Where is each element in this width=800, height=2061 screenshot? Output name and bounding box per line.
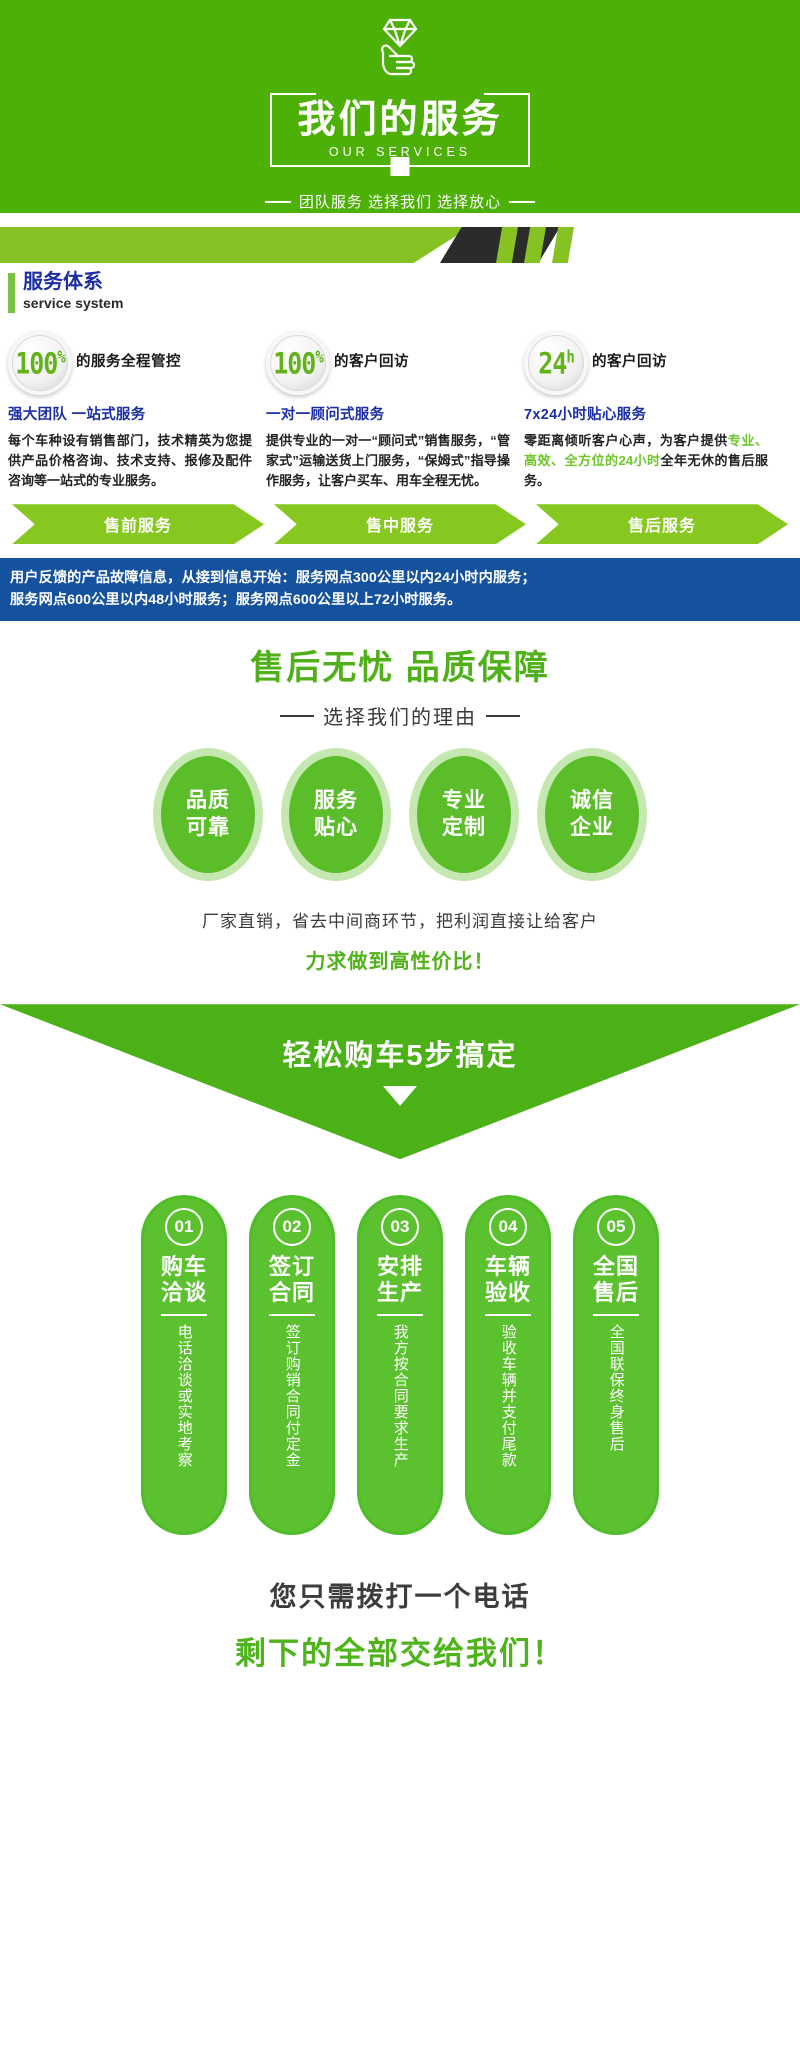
- service-column-3: 24h 的客户回访 7x24小时贴心服务 零距离倾听客户心声，为客户提供专业、高…: [524, 331, 782, 490]
- percent-badge-1: 100%: [8, 331, 72, 395]
- badge-number-2: 100: [273, 346, 315, 380]
- badge-unit-2: %: [315, 348, 322, 367]
- column-body-3-pre: 零距离倾听客户心声，为客户提供: [524, 433, 728, 448]
- reason-oval-list: 品质 可靠 服务 贴心 专业 定制 诚信 企业: [0, 756, 800, 873]
- badge-label-1: 的服务全程管控: [76, 355, 181, 371]
- reason-oval-quality: 品质 可靠: [161, 756, 255, 873]
- badge-row-1: 100% 的服务全程管控: [8, 331, 252, 395]
- step-title-4: 车辆 验收: [485, 1254, 531, 1305]
- badge-label-2: 的客户回访: [334, 355, 409, 371]
- phase-arrow-presale[interactable]: 售前服务: [12, 504, 264, 544]
- badge-unit-3: h: [566, 348, 573, 367]
- step-title-2-l1: 签订: [269, 1254, 315, 1280]
- phase-arrow-insale[interactable]: 售中服务: [274, 504, 526, 544]
- reason-oval-integrity-l2: 企业: [570, 815, 614, 842]
- step-title-5: 全国 售后: [593, 1254, 639, 1305]
- step-number-5: 05: [597, 1208, 635, 1246]
- cta-line-1: 您只需拨打一个电话: [0, 1575, 800, 1614]
- heading-accent-bar: [8, 273, 15, 313]
- reason-oval-custom-l1: 专业: [442, 788, 486, 815]
- reasons-subheading-text: 选择我们的理由: [323, 701, 477, 730]
- step-title-1-l1: 购车: [161, 1254, 207, 1280]
- step-title-2: 签订 合同: [269, 1254, 315, 1305]
- service-system-title-cn: 服务体系: [23, 271, 123, 294]
- step-title-5-l2: 售后: [593, 1280, 639, 1306]
- decor-green-slab: [0, 227, 470, 263]
- step-title-3-l1: 安排: [377, 1254, 423, 1280]
- hero-title-box: 我们的服务 OUR SERVICES: [270, 93, 530, 167]
- badge-row-2: 100% 的客户回访: [266, 331, 510, 395]
- phase-arrow-aftersale-label: 售后服务: [628, 512, 696, 536]
- hours-badge-3: 24h: [524, 331, 588, 395]
- notice-line-1: 用户反馈的产品故障信息，从接到信息开始：服务网点300公里以内24小时内服务；: [10, 567, 790, 589]
- step-desc-2: 签订购销合同付定金: [282, 1324, 302, 1468]
- reason-oval-quality-l1: 品质: [186, 788, 230, 815]
- service-notice-bar: 用户反馈的产品故障信息，从接到信息开始：服务网点300公里以内24小时内服务； …: [0, 558, 800, 621]
- step-divider-2: [269, 1314, 315, 1316]
- column-title-2: 一对一顾问式服务: [266, 403, 510, 424]
- reason-oval-integrity-l1: 诚信: [570, 788, 614, 815]
- step-number-3: 03: [381, 1208, 419, 1246]
- phase-arrow-presale-label: 售前服务: [104, 512, 172, 536]
- reason-oval-custom: 专业 定制: [417, 756, 511, 873]
- reasons-heading: 售后无忧 品质保障: [0, 651, 800, 685]
- reason-oval-quality-l2: 可靠: [186, 815, 230, 842]
- diamond-hand-icon: [372, 12, 428, 89]
- step-title-2-l2: 合同: [269, 1280, 315, 1306]
- phase-arrow-insale-label: 售中服务: [366, 512, 434, 536]
- step-divider-1: [161, 1314, 207, 1316]
- step-divider-5: [593, 1314, 639, 1316]
- hero-tagline: 团队服务 选择我们 选择放心: [265, 191, 535, 212]
- step-desc-5: 全国联保终身售后: [606, 1324, 626, 1452]
- step-title-4-l1: 车辆: [485, 1254, 531, 1280]
- purchase-step-5: 05 全国 售后 全国联保终身售后: [573, 1195, 659, 1535]
- phase-arrow-aftersale[interactable]: 售后服务: [536, 504, 788, 544]
- step-title-3-l2: 生产: [377, 1280, 423, 1306]
- step-title-1: 购车 洽谈: [161, 1254, 207, 1305]
- purchase-step-3: 03 安排 生产 我方按合同要求生产: [357, 1195, 443, 1535]
- step-number-4: 04: [489, 1208, 527, 1246]
- step-desc-3: 我方按合同要求生产: [390, 1324, 410, 1468]
- reason-oval-service-l1: 服务: [314, 788, 358, 815]
- badge-unit-1: %: [57, 348, 64, 367]
- purchase-steps-banner-title: 轻松购车5步搞定: [282, 1032, 517, 1074]
- badge-row-3: 24h 的客户回访: [524, 331, 768, 395]
- step-number-1: 01: [165, 1208, 203, 1246]
- service-column-1: 100% 的服务全程管控 强大团队 一站式服务 每个车种设有销售部门，技术精英为…: [8, 331, 266, 490]
- column-title-3: 7x24小时贴心服务: [524, 403, 768, 424]
- selling-point-line-1: 厂家直销，省去中间商环节，把利润直接让给客户: [0, 907, 800, 932]
- percent-badge-2: 100%: [266, 331, 330, 395]
- column-title-1: 强大团队 一站式服务: [8, 403, 252, 424]
- reason-oval-integrity: 诚信 企业: [545, 756, 639, 873]
- column-body-1: 每个车种设有销售部门，技术精英为您提供产品价格咨询、技术支持、报修及配件咨询等一…: [8, 431, 252, 490]
- hero-tick-marker: [391, 157, 410, 176]
- purchase-step-1: 01 购车 洽谈 电话洽谈或实地考察: [141, 1195, 227, 1535]
- page-title: 我们的服务: [297, 100, 502, 138]
- step-title-5-l1: 全国: [593, 1254, 639, 1280]
- service-column-2: 100% 的客户回访 一对一顾问式服务 提供专业的一对一“顾问式”销售服务，“管…: [266, 331, 524, 490]
- step-title-3: 安排 生产: [377, 1254, 423, 1305]
- down-caret-icon: [383, 1086, 417, 1106]
- subheading-dash-left: [280, 715, 314, 717]
- cta-line-2: 剩下的全部交给我们！: [0, 1628, 800, 1673]
- reasons-section: 售后无忧 品质保障 选择我们的理由 品质 可靠 服务 贴心 专业 定制 诚信 企…: [0, 651, 800, 974]
- reasons-subheading: 选择我们的理由: [280, 701, 520, 730]
- service-system-title-en: service system: [23, 295, 123, 312]
- reason-oval-service-l2: 贴心: [314, 815, 358, 842]
- step-divider-4: [485, 1314, 531, 1316]
- purchase-step-2: 02 签订 合同 签订购销合同付定金: [249, 1195, 335, 1535]
- step-title-1-l2: 洽谈: [161, 1280, 207, 1306]
- subheading-dash-right: [486, 715, 520, 717]
- purchase-step-list: 01 购车 洽谈 电话洽谈或实地考察 02 签订 合同 签订购销合同付定金 03…: [0, 1195, 800, 1535]
- step-desc-4: 验收车辆并支付尾款: [498, 1324, 518, 1468]
- step-desc-1: 电话洽谈或实地考察: [174, 1324, 194, 1468]
- service-phase-arrows: 售前服务 售中服务 售后服务: [0, 504, 800, 544]
- hero-banner: 我们的服务 OUR SERVICES 团队服务 选择我们 选择放心: [0, 0, 800, 213]
- badge-label-3: 的客户回访: [592, 355, 667, 371]
- tagline-dash-right: [509, 201, 535, 203]
- badge-number-3: 24: [538, 346, 566, 380]
- purchase-steps-banner: 轻松购车5步搞定: [0, 1004, 800, 1159]
- selling-point-line-2: 力求做到高性价比！: [0, 945, 800, 974]
- column-body-3: 零距离倾听客户心声，为客户提供专业、高效、全方位的24小时全年无休的售后服务。: [524, 431, 768, 490]
- section-decor-bar: [0, 227, 800, 263]
- reason-oval-custom-l2: 定制: [442, 815, 486, 842]
- step-divider-3: [377, 1314, 423, 1316]
- reason-oval-service: 服务 贴心: [289, 756, 383, 873]
- tagline-text: 团队服务 选择我们 选择放心: [299, 191, 501, 212]
- step-title-4-l2: 验收: [485, 1280, 531, 1306]
- tagline-dash-left: [265, 201, 291, 203]
- notice-line-2: 服务网点600公里以内48小时服务；服务网点600公里以上72小时服务。: [10, 589, 790, 611]
- column-body-2: 提供专业的一对一“顾问式”销售服务，“管家式”运输送货上门服务，“保姆式”指导操…: [266, 431, 510, 490]
- call-to-action: 您只需拨打一个电话 剩下的全部交给我们！: [0, 1575, 800, 1673]
- purchase-step-4: 04 车辆 验收 验收车辆并支付尾款: [465, 1195, 551, 1535]
- step-number-2: 02: [273, 1208, 311, 1246]
- service-system-heading: 服务体系 service system: [0, 271, 800, 313]
- service-columns: 100% 的服务全程管控 强大团队 一站式服务 每个车种设有销售部门，技术精英为…: [0, 331, 800, 490]
- badge-number-1: 100: [15, 346, 57, 380]
